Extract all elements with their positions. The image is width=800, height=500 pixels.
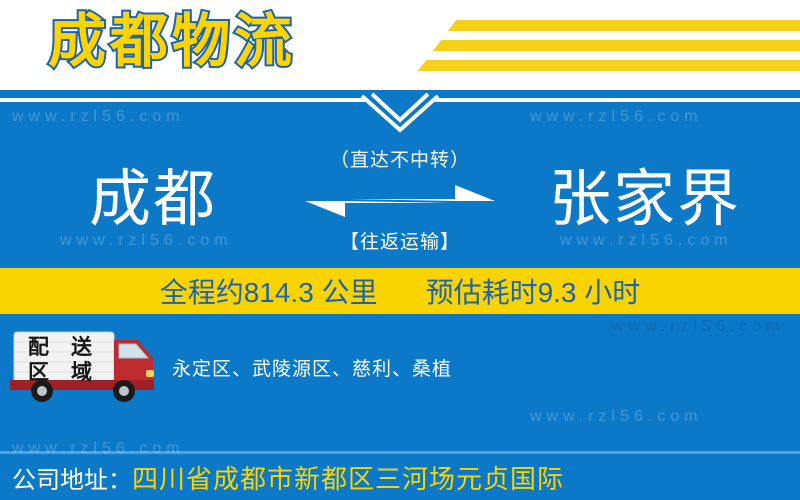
stat-distance: 全程约814.3 公里 xyxy=(160,271,378,311)
badge-char-1: 配 xyxy=(28,337,49,358)
origin-city: 成都 xyxy=(8,145,298,255)
stat-duration: 预估耗时9.3 小时 xyxy=(426,271,641,311)
route-middle: （直达不中转） 【往返运输】 xyxy=(290,145,510,265)
decor-stripe-2 xyxy=(433,40,800,51)
route-row: 成都 （直达不中转） 【往返运输】 张家界 xyxy=(0,145,800,265)
brand-title: 成都物流 xyxy=(48,6,296,78)
banner-body: 成都 （直达不中转） 【往返运输】 张家界 全程约814.3 公里 预估耗时9.… xyxy=(0,90,800,500)
badge-char-2: 送 xyxy=(71,337,92,358)
badge-char-4: 域 xyxy=(71,362,92,383)
footer-address-value: 四川省成都市新都区三河场元贞国际 xyxy=(132,459,564,496)
badge-char-3: 区 xyxy=(28,362,49,383)
route-note-roundtrip: 【往返运输】 xyxy=(290,227,510,254)
logistics-banner: 成都物流 成都 （直达不中转） 【往返运输】 xyxy=(0,0,800,500)
double-arrow-icon xyxy=(290,177,510,225)
chevron-down-icon xyxy=(360,92,440,134)
decor-stripe-1 xyxy=(448,20,800,31)
footer-address-label: 公司地址： xyxy=(12,460,132,495)
banner-header: 成都物流 xyxy=(0,0,800,90)
route-note-direct: （直达不中转） xyxy=(290,145,510,172)
district-list: 永定区、武陵源区、慈利、桑植 xyxy=(172,354,452,381)
stats-bar: 全程约814.3 公里 预估耗时9.3 小时 xyxy=(0,268,800,314)
footer-address-bar: 公司地址： 四川省成都市新都区三河场元贞国际 xyxy=(0,454,800,500)
divider-rule-right xyxy=(435,98,800,102)
delivery-area-row: 配 送 区 域 永定区、武陵源区、慈利、桑植 xyxy=(0,330,800,410)
decor-stripe-3 xyxy=(418,60,800,71)
divider-rule-left xyxy=(0,98,365,102)
delivery-area-badge: 配 送 区 域 xyxy=(17,335,103,385)
destination-city: 张家界 xyxy=(500,145,790,255)
